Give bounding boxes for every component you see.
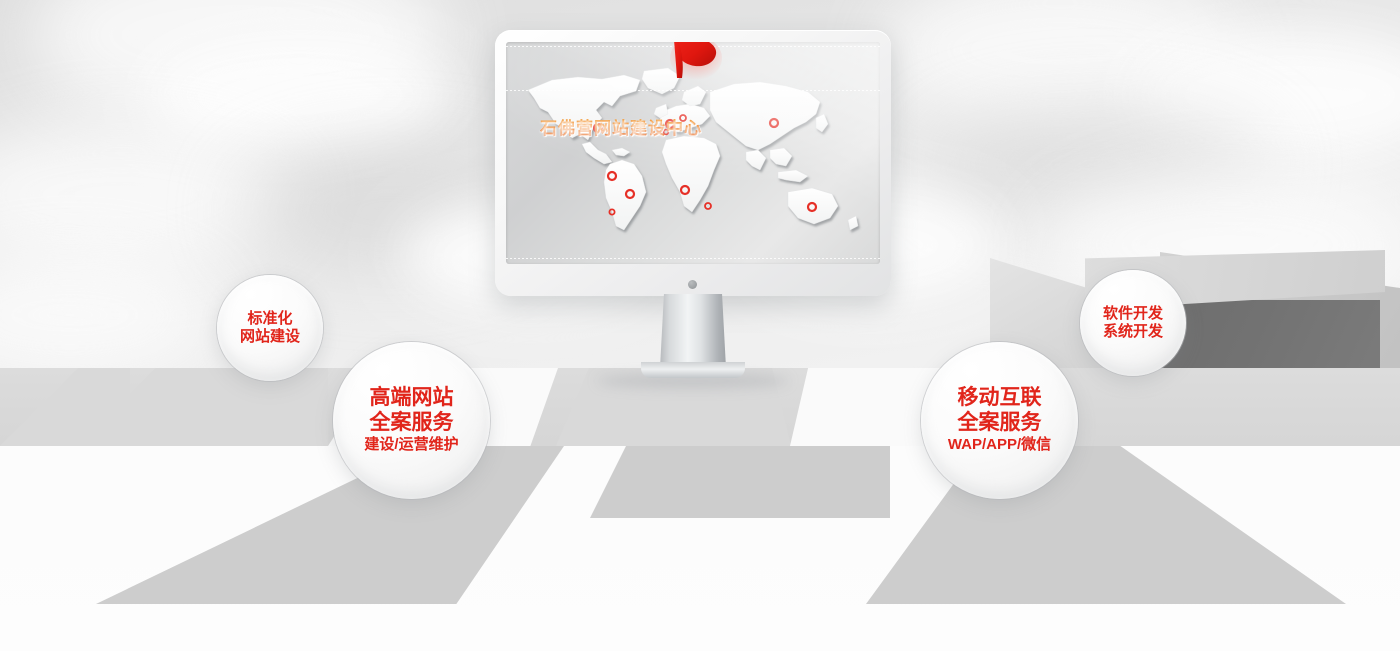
banner-stage: 石佛营网站建设中心 石佛营网站建设中心 石佛营网站建设服务热线：010-5728… [0, 0, 1400, 651]
bubble-line-2: 系统开发 [1103, 323, 1163, 341]
screen-title: 石佛营网站建设中心 [540, 114, 702, 139]
cloud-blob [0, 250, 220, 380]
red-leaf-swoosh-icon [666, 42, 726, 90]
bubble-line-3: 建设/运营维护 [364, 436, 458, 455]
bubble-line-1: 软件开发 [1103, 305, 1163, 323]
monitor-screen: 石佛营网站建设中心 石佛营网站建设中心 石佛营网站建设服务热线：010-5728… [506, 42, 880, 264]
monitor: 石佛营网站建设中心 石佛营网站建设中心 石佛营网站建设服务热线：010-5728… [495, 30, 891, 296]
screen-dotted-line [506, 90, 880, 91]
bubble-mobile-internet[interactable]: 移动互联 全案服务 WAP/APP/微信 [921, 342, 1078, 499]
bubble-line-3: WAP/APP/微信 [948, 436, 1051, 455]
screen-dotted-line [506, 258, 880, 259]
monitor-stand-neck [660, 294, 726, 368]
bubble-highend-website[interactable]: 高端网站 全案服务 建设/运营维护 [333, 342, 490, 499]
bubble-software-development[interactable]: 软件开发 系统开发 [1080, 270, 1186, 376]
bubble-standardized-website[interactable]: 标准化 网站建设 [217, 275, 323, 381]
bubble-line-2: 网站建设 [240, 328, 300, 346]
floor-tile [590, 446, 890, 518]
bubble-line-1: 标准化 [247, 310, 292, 328]
bubble-line-2: 全案服务 [370, 411, 454, 436]
bubble-line-1: 移动互联 [958, 386, 1042, 411]
camera-dot-icon [688, 280, 697, 289]
bubble-line-2: 全案服务 [958, 411, 1042, 436]
bubble-line-1: 高端网站 [370, 386, 454, 411]
monitor-stand-base [641, 362, 745, 378]
